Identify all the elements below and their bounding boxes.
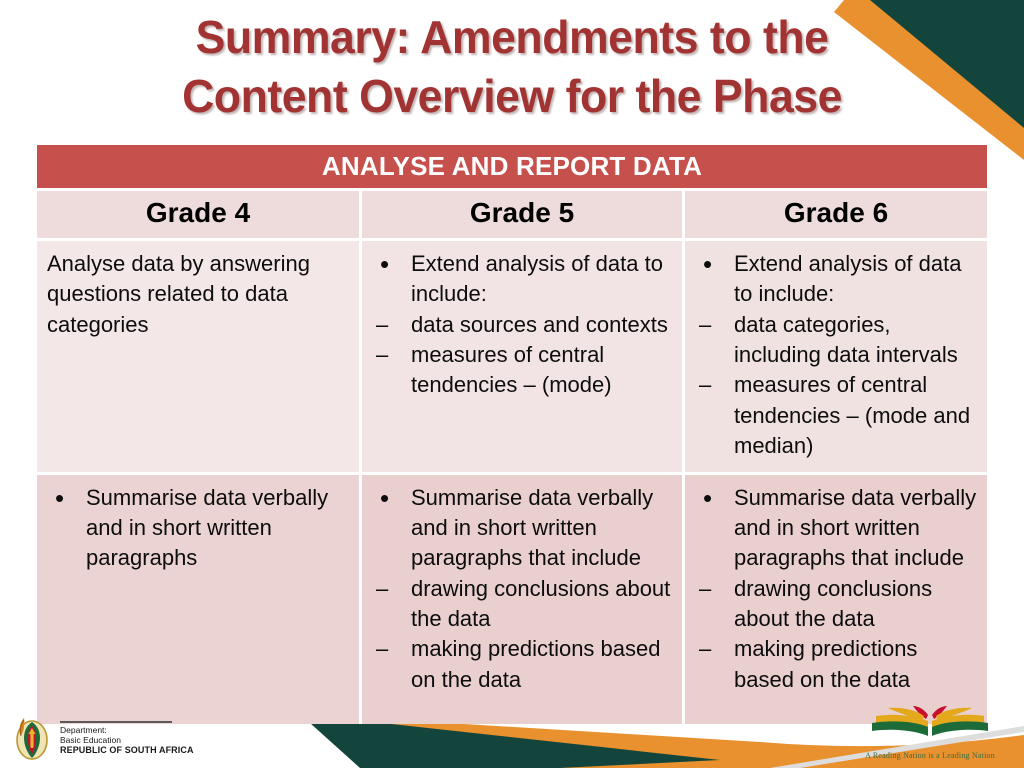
bullet-marker-icon: • — [380, 483, 408, 515]
cell-grade4-summarise: •Summarise data verbally and in short wr… — [37, 472, 362, 724]
section-band-label: ANALYSE AND REPORT DATA — [37, 145, 987, 188]
dbe-line-1: Department: — [60, 725, 194, 735]
list-item-label: Summarise data verbally and in short wri… — [734, 485, 976, 571]
dbe-line-2: Basic Education — [60, 735, 194, 745]
grades-table: Grade 4 Grade 5 Grade 6 Analyse data by … — [37, 188, 987, 724]
slide-canvas: Summary: Amendments to the Content Overv… — [0, 0, 1024, 768]
bullet-marker-icon: • — [703, 249, 731, 281]
cell-grade4-analyse: Analyse data by answering questions rela… — [37, 238, 362, 472]
dash-marker-icon: – — [699, 574, 727, 604]
list-item: –drawing conclusions about the data — [691, 574, 981, 635]
cell-list: •Summarise data verbally and in short wr… — [691, 483, 981, 696]
dash-marker-icon: – — [699, 370, 727, 400]
list-item: •Summarise data verbally and in short wr… — [368, 483, 676, 574]
list-item-label: Extend analysis of data to include: — [734, 251, 961, 306]
dash-marker-icon: – — [376, 574, 404, 604]
list-item-label: Summarise data verbally and in short wri… — [411, 485, 653, 571]
list-item: –making predictions based on the data — [368, 634, 676, 695]
content-table: ANALYSE AND REPORT DATA Grade 4 Grade 5 … — [37, 145, 987, 724]
list-item: •Summarise data verbally and in short wr… — [691, 483, 981, 574]
open-book-icon — [858, 705, 1002, 745]
table-header-row: Grade 4 Grade 5 Grade 6 — [37, 188, 987, 238]
column-header-grade-6: Grade 6 — [685, 188, 987, 238]
cell-list: •Extend analysis of data to include:–dat… — [691, 249, 981, 462]
south-africa-coat-of-arms-icon — [12, 714, 52, 762]
bullet-marker-icon: • — [380, 249, 408, 281]
dash-marker-icon: – — [699, 310, 727, 340]
list-item: •Extend analysis of data to include: — [691, 249, 981, 310]
list-item-label: measures of central tendencies – (mode) — [411, 342, 612, 397]
list-item: •Extend analysis of data to include: — [368, 249, 676, 310]
column-header-grade-4: Grade 4 — [37, 188, 362, 238]
dash-marker-icon: – — [376, 340, 404, 370]
dbe-logo: Department: Basic Education REPUBLIC OF … — [12, 714, 194, 762]
reading-nation-caption: A Reading Nation is a Leading Nation — [858, 751, 1002, 760]
reading-nation-logo: A Reading Nation is a Leading Nation — [858, 705, 1002, 760]
cell-list: •Summarise data verbally and in short wr… — [368, 483, 676, 696]
cell-paragraph: Analyse data by answering questions rela… — [43, 249, 353, 340]
column-header-grade-5: Grade 5 — [362, 188, 685, 238]
list-item-label: drawing conclusions about the data — [734, 576, 932, 631]
list-item: –data categories, including data interva… — [691, 310, 981, 371]
list-item: •Summarise data verbally and in short wr… — [43, 483, 353, 574]
table-row: Analyse data by answering questions rela… — [37, 238, 987, 472]
list-item-label: making predictions based on the data — [411, 636, 660, 691]
cell-list: •Summarise data verbally and in short wr… — [43, 483, 353, 574]
cell-grade6-summarise: •Summarise data verbally and in short wr… — [685, 472, 987, 724]
list-item: –data sources and contexts — [368, 310, 676, 340]
list-item-label: drawing conclusions about the data — [411, 576, 670, 631]
dbe-line-3: REPUBLIC OF SOUTH AFRICA — [60, 745, 194, 756]
list-item-label: Extend analysis of data to include: — [411, 251, 663, 306]
dbe-divider — [60, 721, 172, 723]
dash-marker-icon: – — [376, 310, 404, 340]
cell-grade5-analyse: •Extend analysis of data to include:–dat… — [362, 238, 685, 472]
list-item: –drawing conclusions about the data — [368, 574, 676, 635]
list-item-label: data sources and contexts — [411, 312, 668, 337]
dash-marker-icon: – — [699, 634, 727, 664]
bullet-marker-icon: • — [55, 483, 83, 515]
list-item-label: measures of central tendencies – (mode a… — [734, 372, 970, 458]
bullet-marker-icon: • — [703, 483, 731, 515]
cell-grade6-analyse: •Extend analysis of data to include:–dat… — [685, 238, 987, 472]
list-item-label: Summarise data verbally and in short wri… — [86, 485, 328, 571]
page-title: Summary: Amendments to the Content Overv… — [15, 8, 1008, 126]
list-item: –making predictions based on the data — [691, 634, 981, 695]
cell-grade5-summarise: •Summarise data verbally and in short wr… — [362, 472, 685, 724]
list-item: –measures of central tendencies – (mode) — [368, 340, 676, 401]
list-item: –measures of central tendencies – (mode … — [691, 370, 981, 461]
cell-list: •Extend analysis of data to include:–dat… — [368, 249, 676, 401]
list-item-label: making predictions based on the data — [734, 636, 917, 691]
table-row: •Summarise data verbally and in short wr… — [37, 472, 987, 724]
list-item-label: data categories, including data interval… — [734, 312, 958, 367]
dash-marker-icon: – — [376, 634, 404, 664]
